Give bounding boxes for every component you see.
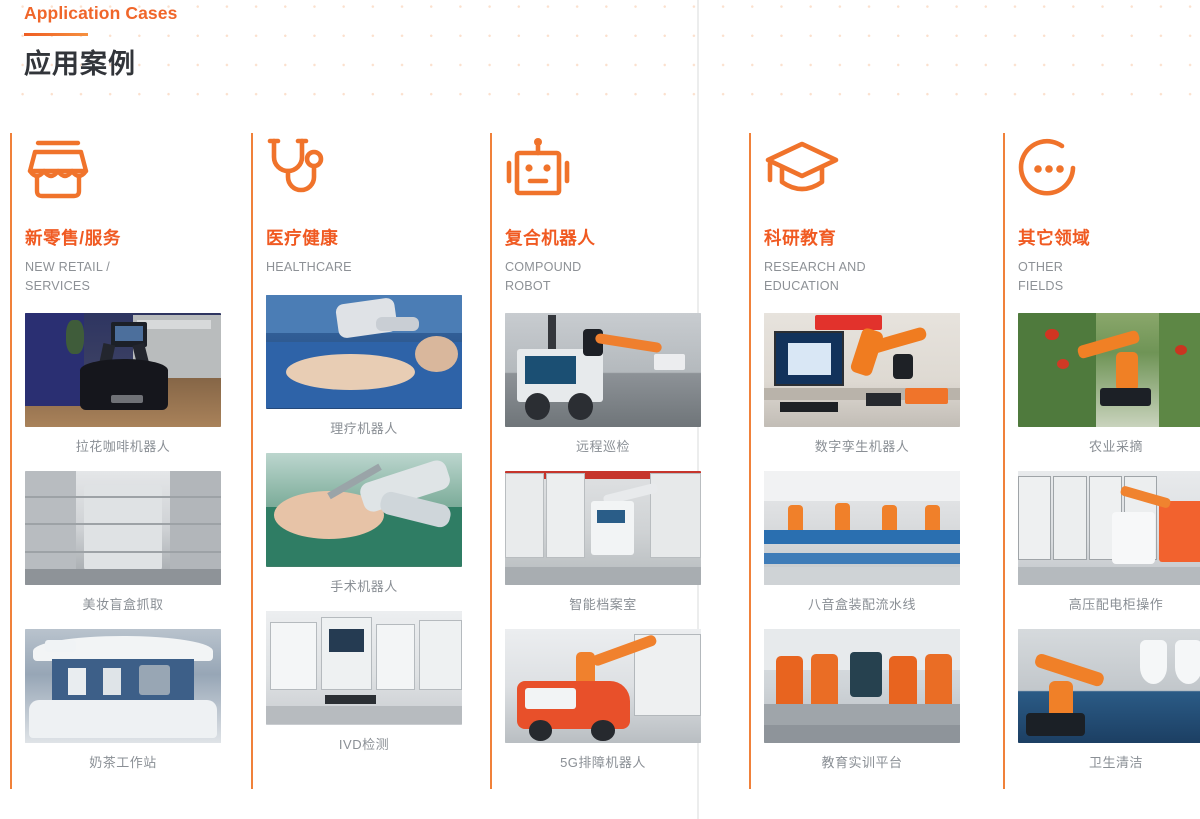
category-title-en-line2: FIELDS — [1018, 277, 1192, 296]
case-thumbnail[interactable] — [1018, 471, 1200, 585]
case-caption: 教育实训平台 — [764, 754, 960, 772]
case-thumbnail[interactable] — [1018, 313, 1200, 427]
case-thumbnail[interactable] — [764, 471, 960, 585]
case-item[interactable]: IVD检测 — [266, 611, 472, 754]
case-list: 农业采摘 高压配电柜操作 卫生清洁 — [1018, 313, 1192, 772]
category-column-healthcare[interactable]: 医疗健康 HEALTHCARE 理疗机器人 手术机器人 — [241, 133, 480, 789]
case-item[interactable]: 奶茶工作站 — [25, 629, 233, 772]
case-item[interactable]: 智能档案室 — [505, 471, 731, 614]
graduation-cap-icon — [764, 133, 842, 205]
robot-head-icon — [505, 133, 583, 205]
category-columns: 新零售/服务 NEW RETAIL / SERVICES 拉花咖啡机器人 美妆盲… — [0, 133, 1200, 793]
category-title-en-line2: ROBOT — [505, 277, 731, 296]
case-item[interactable]: 理疗机器人 — [266, 295, 472, 438]
case-caption: 5G排障机器人 — [505, 754, 701, 772]
category-title-en-line1: NEW RETAIL / — [25, 260, 110, 274]
category-title-en-line2: EDUCATION — [764, 277, 985, 296]
case-list: 数字孪生机器人 八音盒装配流水线 教育实训平台 — [764, 313, 985, 772]
section-header: Application Cases 应用案例 — [24, 0, 177, 82]
case-thumbnail[interactable] — [764, 313, 960, 427]
case-caption: 高压配电柜操作 — [1018, 596, 1200, 614]
case-item[interactable]: 远程巡检 — [505, 313, 731, 456]
storefront-icon — [25, 133, 103, 205]
case-caption: 美妆盲盒抓取 — [25, 596, 221, 614]
case-caption: 卫生清洁 — [1018, 754, 1200, 772]
case-caption: 八音盒装配流水线 — [764, 596, 960, 614]
case-item[interactable]: 教育实训平台 — [764, 629, 985, 772]
case-item[interactable]: 八音盒装配流水线 — [764, 471, 985, 614]
category-title-en-line1: COMPOUND — [505, 260, 581, 274]
case-thumbnail[interactable] — [505, 313, 701, 427]
category-title-en: RESEARCH AND EDUCATION — [764, 258, 985, 295]
section-title-en: Application Cases — [24, 0, 177, 26]
case-thumbnail[interactable] — [1018, 629, 1200, 743]
category-column-compound-robot[interactable]: 复合机器人 COMPOUND ROBOT 远程巡检 智能档案室 — [480, 133, 739, 789]
category-title-en-line1: RESEARCH AND — [764, 260, 866, 274]
case-caption: 智能档案室 — [505, 596, 701, 614]
dot-grid-background — [0, 0, 1200, 106]
case-caption: 农业采摘 — [1018, 438, 1200, 456]
case-caption: 理疗机器人 — [266, 420, 462, 438]
category-column-new-retail[interactable]: 新零售/服务 NEW RETAIL / SERVICES 拉花咖啡机器人 美妆盲… — [0, 133, 241, 789]
case-list: 理疗机器人 手术机器人 IVD检测 — [266, 295, 472, 754]
case-thumbnail[interactable] — [764, 629, 960, 743]
case-caption: 拉花咖啡机器人 — [25, 438, 221, 456]
category-title-cn: 新零售/服务 — [25, 226, 233, 250]
category-title-en-line2: SERVICES — [25, 277, 233, 296]
case-thumbnail[interactable] — [25, 471, 221, 585]
case-caption: 远程巡检 — [505, 438, 701, 456]
case-item[interactable]: 拉花咖啡机器人 — [25, 313, 233, 456]
case-thumbnail[interactable] — [505, 629, 701, 743]
case-thumbnail[interactable] — [25, 629, 221, 743]
case-thumbnail[interactable] — [505, 471, 701, 585]
category-title-cn: 其它领域 — [1018, 226, 1192, 250]
case-thumbnail[interactable] — [266, 611, 462, 725]
ellipsis-circle-icon — [1018, 133, 1096, 205]
category-title-en: NEW RETAIL / SERVICES — [25, 258, 233, 295]
category-title-en-line1: HEALTHCARE — [266, 260, 352, 274]
category-title-en: HEALTHCARE — [266, 258, 472, 277]
category-title-cn: 科研教育 — [764, 226, 985, 250]
case-thumbnail[interactable] — [25, 313, 221, 427]
case-thumbnail[interactable] — [266, 295, 462, 409]
case-item[interactable]: 5G排障机器人 — [505, 629, 731, 772]
case-list: 远程巡检 智能档案室 5G排障机器人 — [505, 313, 731, 772]
category-title-cn: 医疗健康 — [266, 226, 472, 250]
case-item[interactable]: 高压配电柜操作 — [1018, 471, 1192, 614]
application-cases-page: Application Cases 应用案例 新零售/服务 NEW RETAIL… — [0, 0, 1200, 819]
case-caption: 奶茶工作站 — [25, 754, 221, 772]
category-title-en: OTHER FIELDS — [1018, 258, 1192, 295]
case-list: 拉花咖啡机器人 美妆盲盒抓取 奶茶工作站 — [25, 313, 233, 772]
case-item[interactable]: 美妆盲盒抓取 — [25, 471, 233, 614]
category-title-en-line1: OTHER — [1018, 260, 1063, 274]
category-column-other-fields[interactable]: 其它领域 OTHER FIELDS 农业采摘 高压配电柜操作 — [993, 133, 1200, 789]
case-item[interactable]: 农业采摘 — [1018, 313, 1192, 456]
category-title-cn: 复合机器人 — [505, 226, 731, 250]
case-caption: 数字孪生机器人 — [764, 438, 960, 456]
title-underline — [24, 33, 88, 36]
case-item[interactable]: 数字孪生机器人 — [764, 313, 985, 456]
case-item[interactable]: 手术机器人 — [266, 453, 472, 596]
case-item[interactable]: 卫生清洁 — [1018, 629, 1192, 772]
case-caption: 手术机器人 — [266, 578, 462, 596]
stethoscope-icon — [266, 133, 344, 205]
category-column-research-education[interactable]: 科研教育 RESEARCH AND EDUCATION 数字孪生机器人 八音盒装… — [739, 133, 993, 789]
category-title-en: COMPOUND ROBOT — [505, 258, 731, 295]
case-caption: IVD检测 — [266, 736, 462, 754]
section-title-cn: 应用案例 — [24, 46, 177, 82]
case-thumbnail[interactable] — [266, 453, 462, 567]
